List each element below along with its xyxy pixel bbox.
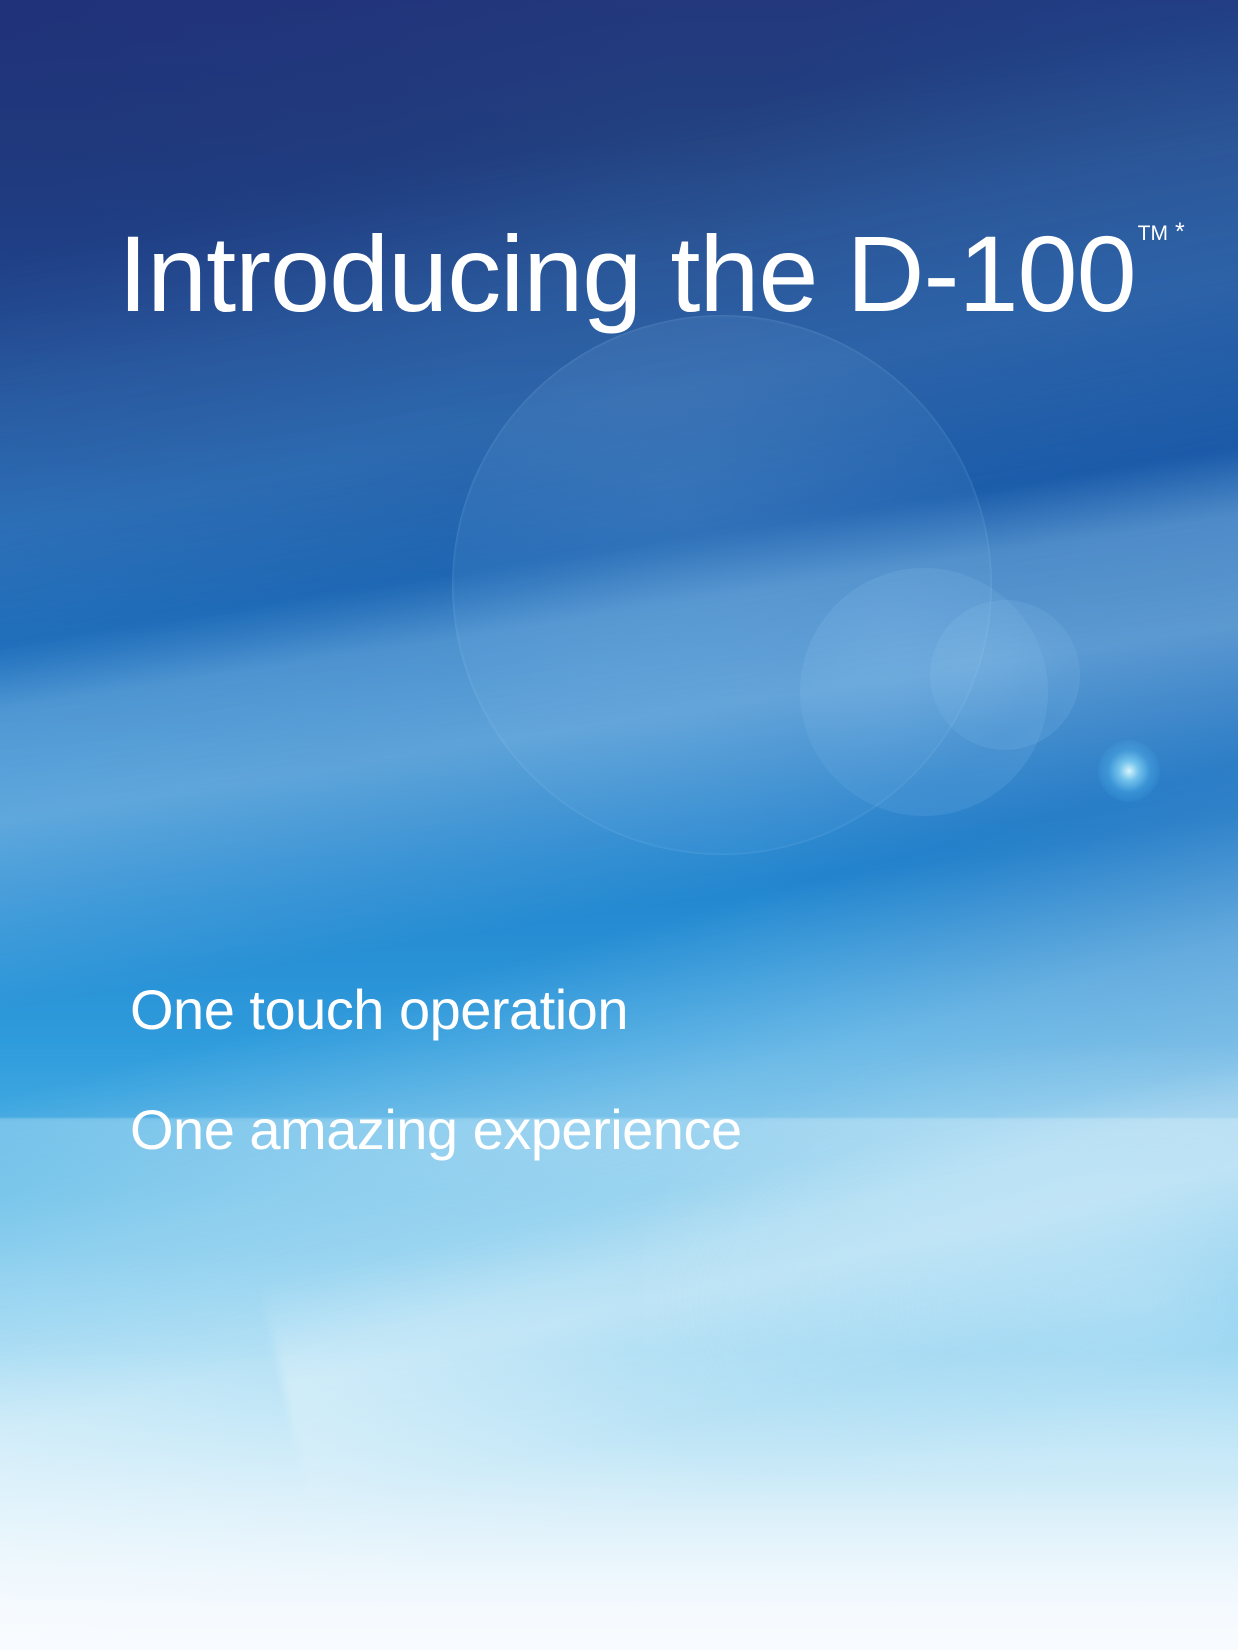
- tagline-secondary: One amazing experience: [130, 1102, 742, 1158]
- page-title-text: Introducing the D-100: [118, 213, 1136, 334]
- tagline-primary: One touch operation: [130, 982, 628, 1038]
- slide-content: Introducing the D-100TM* One touch opera…: [0, 0, 1238, 1650]
- page-title: Introducing the D-100TM*: [118, 220, 1175, 328]
- trademark-mark: TM: [1138, 222, 1168, 245]
- promo-slide: Introducing the D-100TM* One touch opera…: [0, 0, 1238, 1650]
- footnote-marker: *: [1175, 218, 1184, 246]
